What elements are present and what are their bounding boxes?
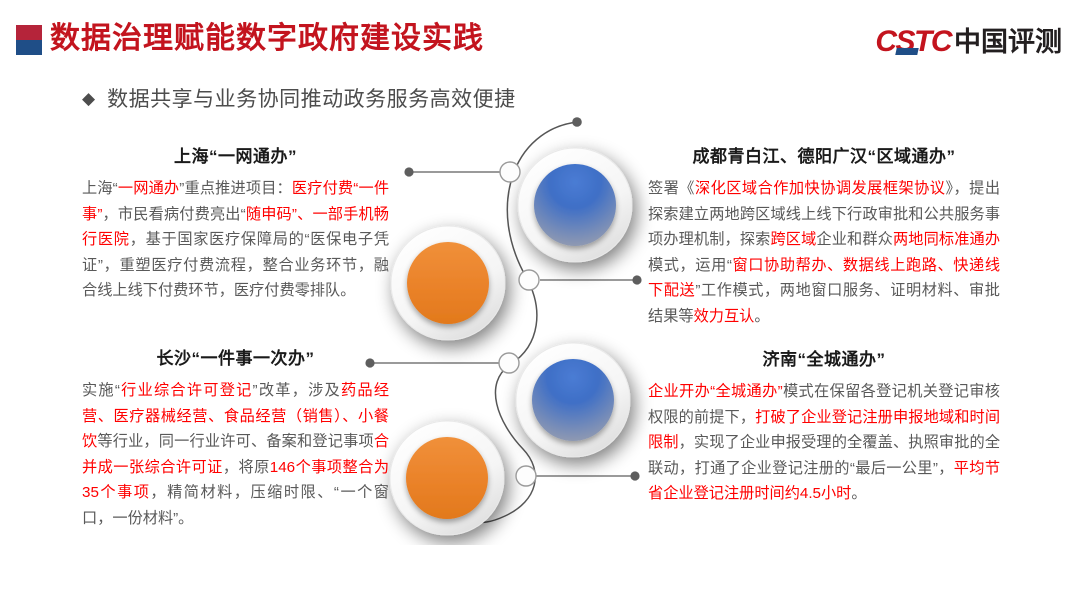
logo-blue-bar [896,48,919,55]
case-body-jinan: 企业开办“全城通办”模式在保留各登记机关登记审核权限的前提下，打破了企业登记注册… [648,379,1000,507]
header-accent-square-bottom [16,40,42,55]
case-title-jinan: 济南“全城通办” [648,345,1000,370]
plain-run: ”重点推进项目： [179,180,292,197]
highlighted-run: 效力互认 [694,308,755,325]
sphere-1-blue [518,148,632,262]
connector-dot-mid-right [632,275,641,284]
plain-run: 上海“ [82,180,118,197]
plain-run: ”改革，涉及 [253,382,341,399]
connector-dot-top-left [404,167,413,176]
sphere-3-blue [516,343,630,457]
highlighted-run: 一网通办 [118,180,180,197]
plain-run: 签署《 [648,180,695,197]
case-body-shanghai: 上海“一网通办”重点推进项目：医疗付费“一件事”，市民看病付费亮出“随申码”、一… [82,176,389,304]
plain-run: 企业和群众 [816,231,893,248]
connector-mid-right [540,275,642,284]
case-block-shanghai: 上海“一网通办” 上海“一网通办”重点推进项目：医疗付费“一件事”，市民看病付费… [82,142,389,304]
case-title-shanghai: 上海“一网通办” [82,142,389,167]
case-block-jinan: 济南“全城通办” 企业开办“全城通办”模式在保留各登记机关登记审核权限的前提下，… [648,345,1000,507]
highlighted-run: 行业综合许可登记 [120,382,253,399]
case-title-chengdu: 成都青白江、德阳广汉“区域通办” [648,142,1000,167]
highlighted-run: 企业开办“全城通办” [648,383,783,400]
plain-run: 。 [754,308,769,325]
case-body-chengdu: 签署《深化区域合作加快协调发展框架协议》，提出探索建立两地跨区域线上线下行政审批… [648,176,1000,329]
logo-mark-text: CSTC [875,26,951,58]
node-mid-left [499,353,519,373]
connector-top-left [404,167,510,176]
sphere-2-orange [391,226,505,340]
plain-run: ，实现了企业申报受理的全覆盖、执照审批的全联动，打通了企业登记注册的“最后一公里… [648,434,1000,477]
node-bottom-right [516,466,536,486]
highlighted-run: 深化区域合作加快协调发展框架协议 [695,180,945,197]
highlighted-run: 两地同标准通办 [893,231,1000,248]
cstc-logo: CSTC 中国评测 [875,26,1062,58]
header-accent-square-top [16,25,42,40]
diamond-bullet-icon: ◆ [82,90,95,107]
plain-run: 等行业，同一行业许可、备案和登记事项 [97,433,373,450]
node-top-left [500,162,520,182]
connector-dot-bottom-right [630,471,639,480]
plain-run: 实施“ [82,382,120,399]
plain-run: ，市民看病付费亮出“ [102,206,245,223]
plain-run: ，将原 [223,459,270,476]
case-body-changsha: 实施“行业综合许可登记”改革，涉及药品经营、医疗器械经营、食品经营（销售）、小餐… [82,378,389,531]
logo-company-name: 中国评测 [954,26,1062,58]
highlighted-run: 跨区域 [770,231,816,248]
curve-endpoint-dot-top [572,117,582,127]
header-accent-square [16,25,42,55]
node-mid-right [519,270,539,290]
plain-run: 。 [851,485,866,502]
case-title-changsha: 长沙“一件事一次办” [82,344,389,369]
slide-header: 数据治理赋能数字政府建设实践 CSTC 中国评测 [0,0,1080,78]
page-title: 数据治理赋能数字政府建设实践 [50,18,484,60]
connector-bottom-right [536,471,640,480]
case-block-changsha: 长沙“一件事一次办” 实施“行业综合许可登记”改革，涉及药品经营、医疗器械经营、… [82,344,389,531]
plain-run: 模式，运用“ [648,257,732,274]
case-block-chengdu: 成都青白江、德阳广汉“区域通办” 签署《深化区域合作加快协调发展框架协议》，提出… [648,142,1000,329]
sphere-4-orange [390,421,504,535]
